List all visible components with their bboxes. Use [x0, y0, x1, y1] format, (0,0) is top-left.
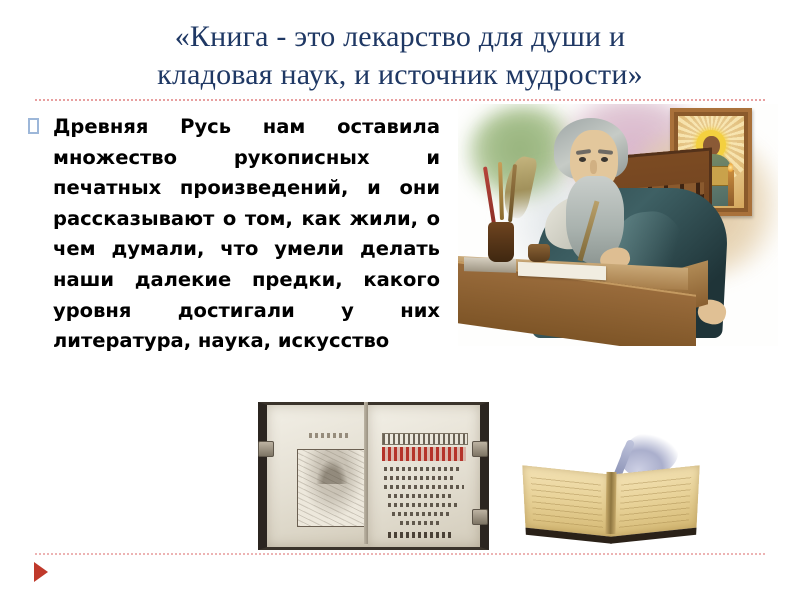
body-text-block: Древняя Русь нам оставила множество руко… [28, 112, 440, 357]
page-colophon-line [388, 532, 452, 538]
old-printed-book-illustration [248, 398, 488, 550]
book-clasp-bottom-right [472, 509, 488, 525]
page-text-line [400, 521, 440, 525]
body-paragraph: Древняя Русь нам оставила множество руко… [53, 112, 440, 357]
page-ornament-band [382, 433, 468, 445]
page-text-line [392, 512, 450, 516]
slide-canvas: «Книга - это лекарство для души и кладов… [0, 0, 800, 600]
page-text-line [388, 494, 454, 498]
candle [728, 170, 734, 206]
open-book-gutter [605, 472, 616, 534]
scribe-nose [590, 160, 597, 174]
scribe-eye-right [601, 157, 608, 162]
bullet-box-icon [28, 118, 39, 134]
page-ruling [619, 474, 691, 528]
page-engraving [297, 449, 369, 527]
page-caption-text [309, 433, 351, 438]
page-text-line [388, 503, 458, 507]
book-clasp-top-right [472, 441, 488, 457]
page-ruling [531, 474, 603, 528]
book-clasp-top-left [258, 441, 274, 457]
candle-flame [728, 163, 733, 172]
open-book-page-right [610, 465, 699, 544]
open-book-illustration [520, 452, 710, 556]
quill-holder [488, 222, 514, 262]
divider-top [35, 99, 765, 101]
slide-title-block: «Книга - это лекарство для души и кладов… [60, 18, 740, 94]
inkwell [528, 244, 550, 262]
open-book-page-left [522, 465, 611, 544]
scribe-eye-left [579, 157, 586, 162]
page-text-line [384, 476, 456, 480]
scribe-illustration [458, 104, 778, 346]
play-triangle-icon[interactable] [34, 562, 48, 582]
page-text-line [384, 467, 462, 471]
book-page-right [368, 402, 489, 550]
divider-bottom [35, 553, 765, 555]
book-page-left [258, 402, 379, 550]
page-red-heading [382, 447, 466, 461]
page-text-line [384, 485, 464, 489]
page-title: «Книга - это лекарство для души и кладов… [60, 18, 740, 94]
